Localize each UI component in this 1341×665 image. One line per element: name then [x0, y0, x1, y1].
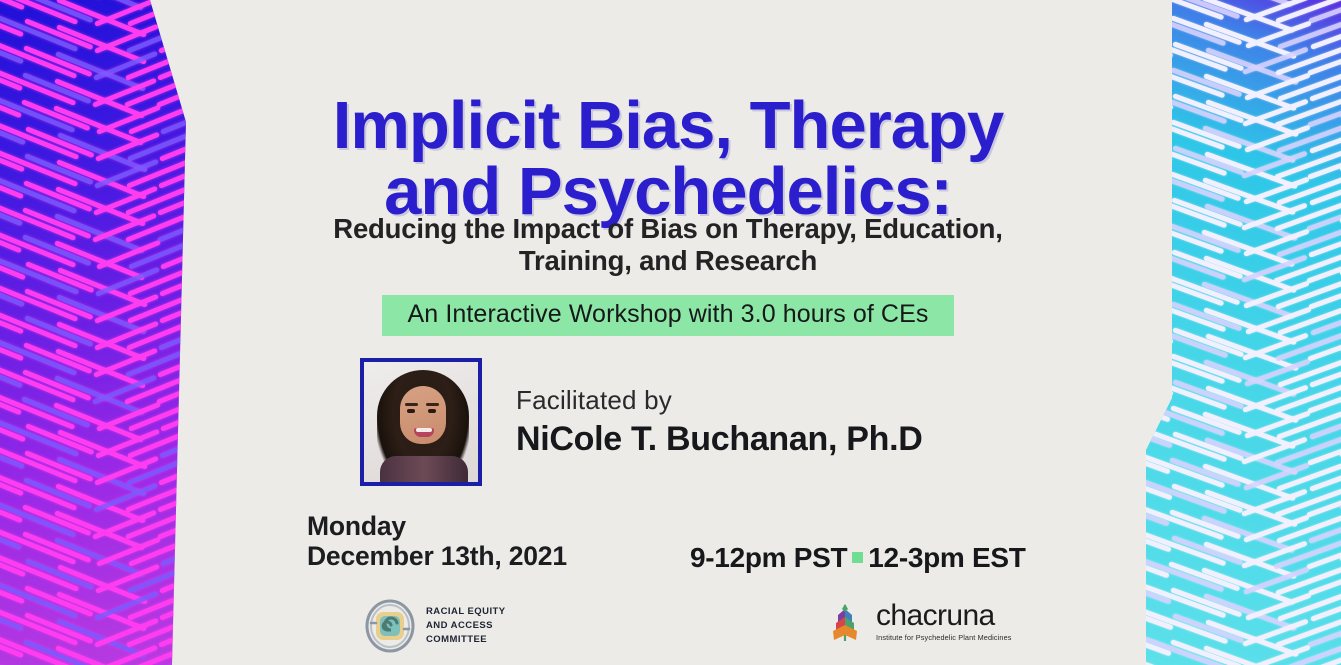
facilitated-by-label: Facilitated by: [516, 385, 923, 416]
avatar: [360, 358, 482, 486]
logo-racial-equity-committee: RACIAL EQUITY AND ACCESS COMMITTEE: [365, 599, 506, 653]
event-date: Monday December 13th, 2021: [307, 512, 567, 571]
reac-line-1: RACIAL EQUITY: [426, 605, 506, 619]
eye-left: [407, 409, 415, 413]
teeth-shape: [416, 428, 432, 432]
subtitle-line-2: Training, and Research: [519, 245, 817, 276]
chacruna-name: chacruna: [876, 602, 1012, 631]
poster-content: Implicit Bias, Therapy and Psychedelics:…: [190, 0, 1146, 665]
eye-right: [428, 409, 436, 413]
page-title: Implicit Bias, Therapy and Psychedelics:: [190, 93, 1146, 224]
shoulders-shape: [380, 456, 468, 482]
facilitator-text: Facilitated by NiCole T. Buchanan, Ph.D: [516, 385, 923, 459]
chacruna-wordmark: chacruna Institute for Psychedelic Plant…: [876, 602, 1012, 642]
reac-wordmark: RACIAL EQUITY AND ACCESS COMMITTEE: [426, 605, 506, 646]
spiral-circle-icon: [365, 599, 415, 653]
ribbon-container: An Interactive Workshop with 3.0 hours o…: [190, 295, 1146, 336]
title-line-1: Implicit Bias, Therapy: [333, 88, 1004, 163]
right-decorative-border: [1146, 0, 1341, 665]
ce-credits-badge: An Interactive Workshop with 3.0 hours o…: [382, 295, 955, 336]
time-pst: 9-12pm PST: [690, 542, 847, 574]
facilitator-name: NiCole T. Buchanan, Ph.D: [516, 420, 923, 459]
reac-line-2: AND ACCESS: [426, 619, 506, 633]
reac-line-3: COMMITTEE: [426, 633, 506, 647]
left-decorative-border: [0, 0, 190, 665]
facilitator-block: Facilitated by NiCole T. Buchanan, Ph.D: [360, 358, 923, 486]
leaf-plant-icon: [825, 601, 865, 643]
eyebrow-right: [426, 403, 439, 406]
event-date-value: December 13th, 2021: [307, 542, 567, 572]
time-separator-square: [852, 552, 863, 563]
event-time: 9-12pm PST 12-3pm EST: [690, 542, 1026, 574]
event-poster: Implicit Bias, Therapy and Psychedelics:…: [0, 0, 1341, 665]
time-est: 12-3pm EST: [868, 542, 1025, 574]
eyebrow-left: [405, 403, 418, 406]
logo-chacruna: chacruna Institute for Psychedelic Plant…: [825, 601, 1012, 643]
chevron-pattern-left: [0, 0, 190, 665]
logo-bar: RACIAL EQUITY AND ACCESS COMMITTEE: [190, 595, 1146, 657]
chevron-pattern-right: [1146, 0, 1341, 665]
subtitle-line-1: Reducing the Impact of Bias on Therapy, …: [333, 213, 1002, 244]
chacruna-tagline: Institute for Psychedelic Plant Medicine…: [876, 633, 1012, 642]
event-day: Monday: [307, 512, 567, 542]
subtitle: Reducing the Impact of Bias on Therapy, …: [212, 213, 1124, 277]
